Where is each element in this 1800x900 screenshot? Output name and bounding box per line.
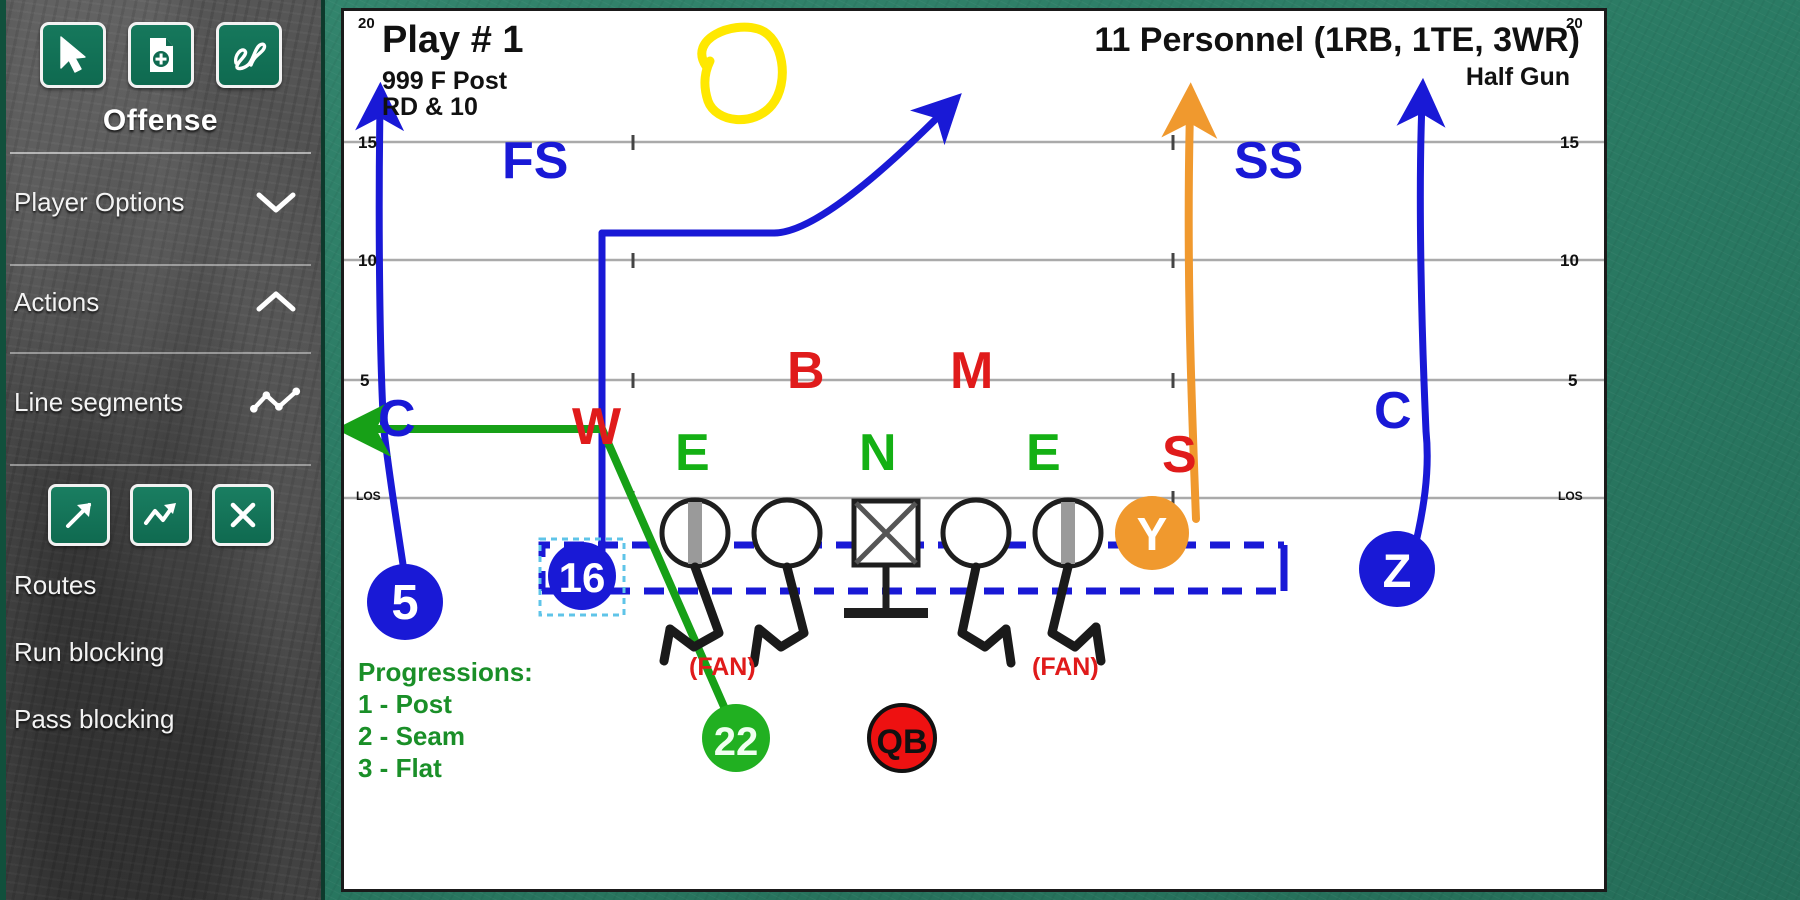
svg-text:16: 16 bbox=[559, 554, 606, 601]
svg-text:QB: QB bbox=[877, 723, 928, 761]
yard-label-right-5: 5 bbox=[1568, 371, 1577, 391]
zigzag-arrow-icon-button[interactable] bbox=[130, 484, 192, 546]
yard-label-right-15: 15 bbox=[1560, 133, 1579, 153]
svg-text:Z: Z bbox=[1383, 544, 1412, 597]
yard-label-left-los: LOS bbox=[356, 489, 381, 503]
page-title: Play # 1 bbox=[382, 19, 524, 62]
freehand-draw-icon-button[interactable] bbox=[216, 22, 282, 88]
block-annotation-fan-right: (FAN) bbox=[1032, 653, 1099, 682]
formation-label: Half Gun bbox=[1466, 63, 1570, 92]
yard-label-left-10: 10 bbox=[358, 251, 377, 271]
defender-label-buck: B bbox=[787, 341, 825, 401]
player-token-22[interactable]: 22 bbox=[702, 704, 770, 772]
progression-item-1: 1 - Post bbox=[358, 689, 452, 720]
personnel-label: 11 Personnel (1RB, 1TE, 3WR) bbox=[1094, 21, 1580, 60]
defender-label-corner-right: C bbox=[1374, 381, 1412, 441]
delete-x-icon bbox=[226, 498, 260, 532]
chevron-down-icon[interactable] bbox=[249, 189, 303, 215]
route-player-5[interactable] bbox=[379, 107, 404, 571]
player-token-5[interactable]: 5 bbox=[367, 564, 443, 640]
tool-button-row bbox=[0, 0, 321, 88]
block-annotation-fan-left: (FAN) bbox=[689, 653, 756, 682]
left-sidebar: Offense Player Options Actions Line segm… bbox=[0, 0, 325, 900]
add-player-icon-button[interactable] bbox=[128, 22, 194, 88]
sidebar-section-actions[interactable]: Actions bbox=[0, 266, 321, 338]
lineman-left-guard[interactable] bbox=[754, 500, 820, 663]
defender-label-corner-left: C bbox=[378, 389, 416, 449]
defender-label-nose: N bbox=[859, 423, 897, 483]
defender-label-will: W bbox=[572, 397, 621, 457]
defender-label-ss: SS bbox=[1234, 131, 1303, 191]
straight-arrow-icon-button[interactable] bbox=[48, 484, 110, 546]
play-diagram-panel[interactable]: 5 16 Y Z 22 QB 20 2 bbox=[341, 8, 1607, 892]
lineman-right-tackle[interactable] bbox=[1035, 500, 1101, 661]
select-arrow-icon-button[interactable] bbox=[40, 22, 106, 88]
sidebar-item-routes[interactable]: Routes bbox=[0, 552, 321, 619]
yard-label-right-los: LOS bbox=[1558, 489, 1583, 503]
yard-lines bbox=[344, 142, 1604, 498]
freehand-draw-icon bbox=[229, 36, 269, 74]
app-root: Offense Player Options Actions Line segm… bbox=[0, 0, 1800, 900]
add-player-icon bbox=[143, 35, 179, 75]
svg-text:22: 22 bbox=[714, 720, 759, 764]
sidebar-section-label: Player Options bbox=[14, 182, 249, 223]
sidebar-section-line-segments[interactable]: Line segments bbox=[0, 354, 321, 450]
yard-label-left-15: 15 bbox=[358, 133, 377, 153]
yard-label-left-5: 5 bbox=[360, 371, 369, 391]
lineman-right-guard[interactable] bbox=[943, 500, 1011, 663]
chevron-up-icon[interactable] bbox=[249, 289, 303, 315]
player-token-z[interactable]: Z bbox=[1359, 531, 1435, 607]
hash-marks bbox=[633, 135, 1173, 506]
progression-item-3: 3 - Flat bbox=[358, 753, 442, 784]
line-segments-icon[interactable] bbox=[249, 385, 303, 419]
center-symbol[interactable] bbox=[844, 501, 928, 613]
svg-text:Y: Y bbox=[1137, 508, 1168, 560]
sidebar-item-pass-blocking[interactable]: Pass blocking bbox=[0, 686, 321, 753]
offensive-line bbox=[662, 500, 1101, 663]
down-and-distance: RD & 10 bbox=[382, 93, 478, 122]
straight-arrow-icon bbox=[61, 497, 97, 533]
defender-label-end-left: E bbox=[675, 423, 710, 483]
defender-label-mike: M bbox=[950, 341, 993, 401]
line-segments-icon-glyph bbox=[249, 385, 303, 419]
defender-label-fs: FS bbox=[502, 131, 568, 191]
sidebar-section-label: Line segments bbox=[14, 382, 249, 423]
select-arrow-icon bbox=[56, 35, 90, 75]
yard-label-right-10: 10 bbox=[1560, 251, 1579, 271]
zigzag-arrow-icon bbox=[142, 498, 180, 532]
segment-tool-row bbox=[0, 466, 321, 552]
yellow-circle-highlight bbox=[702, 27, 783, 120]
sidebar-section-player-options[interactable]: Player Options bbox=[0, 154, 321, 250]
player-token-qb[interactable]: QB bbox=[869, 705, 935, 771]
progression-item-2: 2 - Seam bbox=[358, 721, 465, 752]
defender-label-sam: S bbox=[1162, 425, 1197, 485]
progressions-heading: Progressions: bbox=[358, 657, 533, 688]
sidebar-section-label: Actions bbox=[14, 282, 249, 323]
player-token-y[interactable]: Y bbox=[1115, 496, 1189, 570]
sidebar-item-run-blocking[interactable]: Run blocking bbox=[0, 619, 321, 686]
play-name: 999 F Post bbox=[382, 67, 507, 96]
delete-x-icon-button[interactable] bbox=[212, 484, 274, 546]
svg-text:5: 5 bbox=[391, 576, 418, 630]
defender-label-end-right: E bbox=[1026, 423, 1061, 483]
player-token-16[interactable]: 16 bbox=[548, 542, 616, 610]
route-player-z[interactable] bbox=[1412, 103, 1427, 559]
yard-label-left-20: 20 bbox=[358, 15, 375, 32]
panel-title: Offense bbox=[0, 104, 321, 138]
